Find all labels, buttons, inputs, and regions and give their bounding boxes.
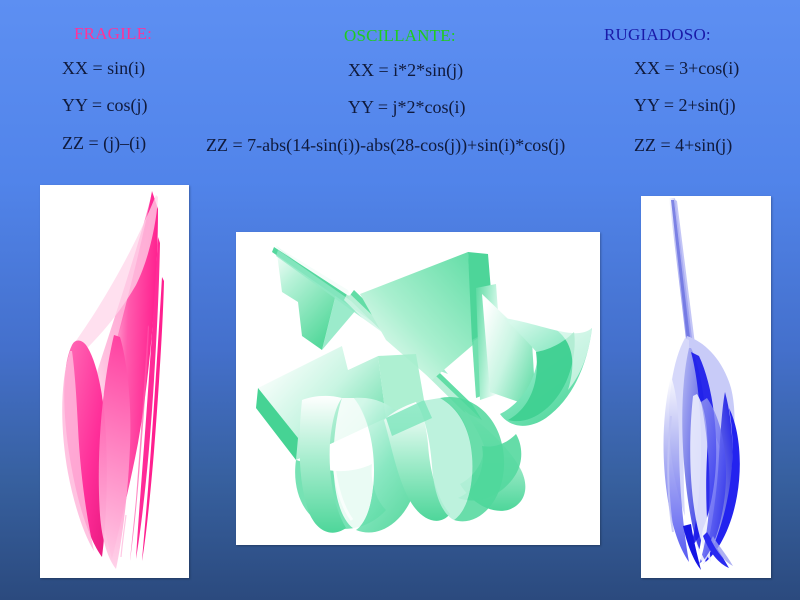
equations-text-area: FRAGILE: XX = sin(i) YY = cos(j) ZZ = (j… (0, 0, 800, 175)
equation-fragile-yy: YY = cos(j) (62, 95, 147, 116)
equation-oscillante-xx: XX = i*2*sin(j) (348, 60, 463, 81)
figure-panel-oscillante (236, 232, 600, 545)
rugiadoso-surface-plot (641, 196, 771, 578)
equation-oscillante-yy: YY = j*2*cos(i) (348, 97, 465, 118)
column-heading-rugiadoso: RUGIADOSO: (604, 25, 711, 45)
column-heading-fragile: FRAGILE: (74, 24, 152, 44)
figure-panel-fragile (40, 185, 189, 578)
column-heading-oscillante: OSCILLANTE: (344, 26, 456, 46)
equation-fragile-zz: ZZ = (j)–(i) (62, 133, 146, 154)
fragile-surface-plot (40, 185, 189, 578)
figure-panel-rugiadoso (641, 196, 771, 578)
equation-fragile-xx: XX = sin(i) (62, 58, 145, 79)
equation-rugiadoso-yy: YY = 2+sin(j) (634, 95, 736, 116)
equation-oscillante-zz: ZZ = 7-abs(14-sin(i))-abs(28-cos(j))+sin… (206, 135, 565, 156)
equation-rugiadoso-xx: XX = 3+cos(i) (634, 58, 739, 79)
equation-rugiadoso-zz: ZZ = 4+sin(j) (634, 135, 732, 156)
oscillante-surface-plot (236, 232, 600, 545)
